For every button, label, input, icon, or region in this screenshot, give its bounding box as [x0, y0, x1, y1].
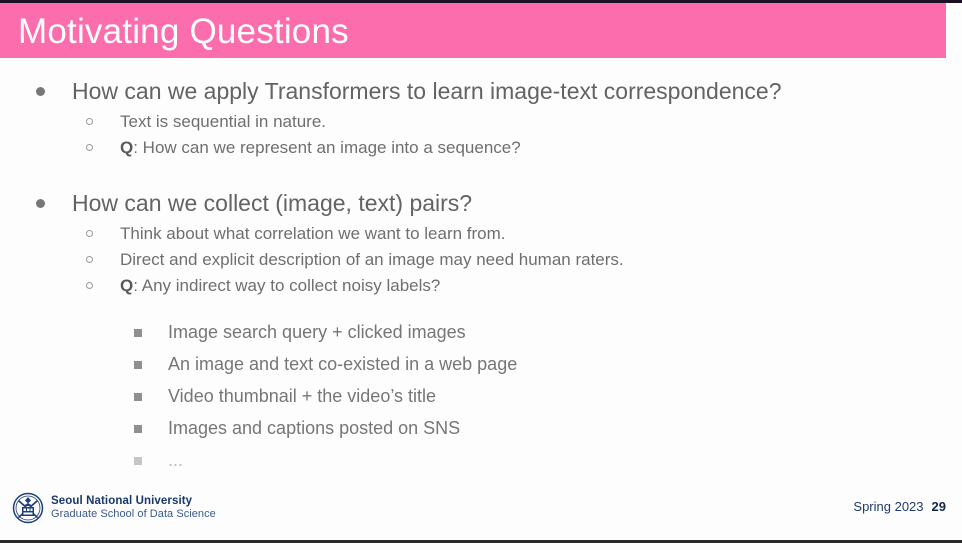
- school-name: Graduate School of Data Science: [51, 508, 216, 522]
- bullet-level2-text: Direct and explicit description of an im…: [120, 250, 624, 269]
- slide-footer: Seoul National University Graduate Schoo…: [0, 488, 962, 540]
- hollow-circle-bullet-icon: [86, 256, 93, 263]
- bullet-level2-text: : Any indirect way to collect noisy labe…: [133, 276, 440, 295]
- bullet-level2: Q: Any indirect way to collect noisy lab…: [0, 273, 962, 299]
- bullet-level1: How can we apply Transformers to learn i…: [0, 75, 962, 107]
- hollow-circle-bullet-icon: [86, 230, 93, 237]
- presentation-slide: Motivating Questions How can we apply Tr…: [0, 0, 962, 543]
- bullet-level3: Images and captions posted on SNS: [0, 415, 962, 441]
- sublist-spacer: [0, 299, 962, 319]
- bullet-level2-bold-prefix: Q: [120, 276, 133, 295]
- bullet-level3-text: Image search query + clicked images: [168, 322, 466, 342]
- footer-meta: Spring 202329: [853, 499, 946, 514]
- bullet-level2: Q: How can we represent an image into a …: [0, 135, 962, 161]
- square-bullet-icon: [134, 329, 142, 337]
- filled-circle-bullet-icon: [36, 199, 45, 208]
- square-bullet-icon: [134, 361, 142, 369]
- hollow-circle-bullet-icon: [86, 118, 93, 125]
- page-number: 29: [932, 499, 946, 514]
- group-spacer: [0, 161, 962, 187]
- slide-body: How can we apply Transformers to learn i…: [0, 75, 962, 473]
- square-bullet-icon: [134, 457, 142, 465]
- slide-title-band: Motivating Questions: [0, 3, 946, 58]
- hollow-circle-bullet-icon: [86, 144, 93, 151]
- square-bullet-icon: [134, 393, 142, 401]
- bullet-level3: Video thumbnail + the video’s title: [0, 383, 962, 409]
- page-title: Motivating Questions: [18, 10, 349, 54]
- bullet-level2-bold-prefix: Q: [120, 138, 133, 157]
- hollow-circle-bullet-icon: [86, 282, 93, 289]
- bullet-level2: Text is sequential in nature.: [0, 109, 962, 135]
- bullet-level1-text: How can we collect (image, text) pairs?: [72, 190, 472, 216]
- bullet-level1: How can we collect (image, text) pairs?: [0, 187, 962, 219]
- square-bullet-icon: [134, 425, 142, 433]
- bullet-level2-text: : How can we represent an image into a s…: [133, 138, 520, 157]
- bullet-level3-text: An image and text co-existed in a web pa…: [168, 354, 517, 374]
- bullet-level3: ...: [0, 447, 962, 473]
- bullet-level3-text: ...: [168, 450, 183, 470]
- bullet-level2: Think about what correlation we want to …: [0, 221, 962, 247]
- university-name: Seoul National University: [51, 494, 216, 508]
- bullet-level3: Image search query + clicked images: [0, 319, 962, 345]
- term-label: Spring 2023: [853, 499, 923, 514]
- bullet-level2-text: Think about what correlation we want to …: [120, 224, 506, 243]
- bullet-level3: An image and text co-existed in a web pa…: [0, 351, 962, 377]
- bullet-level3-text: Images and captions posted on SNS: [168, 418, 460, 438]
- bullet-level1-text: How can we apply Transformers to learn i…: [72, 78, 782, 104]
- bullet-level2: Direct and explicit description of an im…: [0, 247, 962, 273]
- university-wordmark: Seoul National University Graduate Schoo…: [51, 494, 216, 522]
- filled-circle-bullet-icon: [36, 87, 45, 96]
- snu-emblem-icon: [12, 492, 44, 524]
- bullet-level2-text: Text is sequential in nature.: [120, 112, 326, 131]
- university-logo-block: Seoul National University Graduate Schoo…: [12, 492, 216, 524]
- bullet-level3-text: Video thumbnail + the video’s title: [168, 386, 436, 406]
